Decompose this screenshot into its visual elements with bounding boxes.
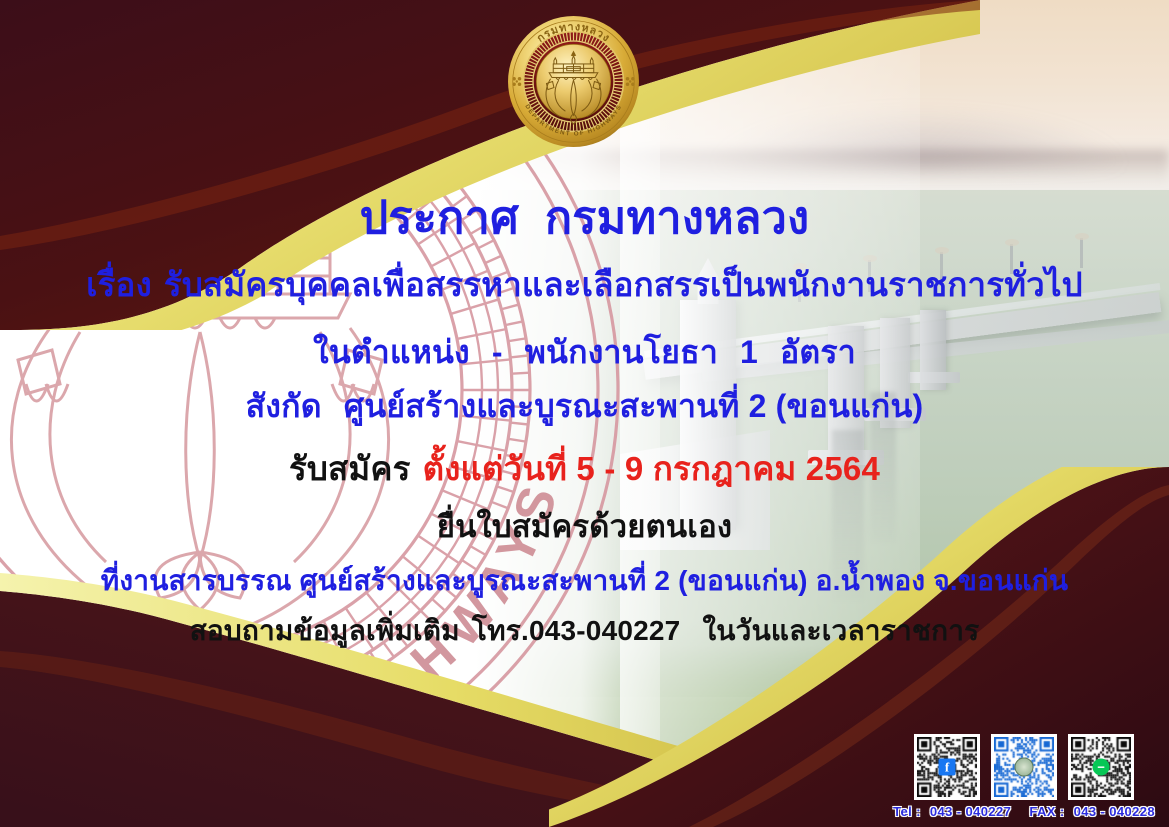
application-method-line: ยื่นใบสมัครด้วยตนเอง [0, 501, 1169, 551]
apply-label: รับสมัคร [289, 450, 411, 487]
tel-value: 043 - 040227 [930, 804, 1011, 819]
tel-fax-caption: Tel :043 - 040227FAX :043 - 040228 [893, 804, 1155, 819]
position-count: 1 [740, 334, 758, 370]
contact-hours: ในวันและเวลาราชการ [702, 615, 979, 646]
subject-label: เรื่อง [86, 266, 152, 303]
affiliation-line: สังกัดศูนย์สร้างและบูรณะสะพานที่ 2 (ขอนแ… [0, 381, 1169, 432]
contact-label: สอบถามข้อมูลเพิ่มเติม [190, 615, 460, 646]
qr-line[interactable]: − [1068, 734, 1134, 800]
poster-title: ประกาศกรมทางหลวง [0, 181, 1169, 253]
announcement-poster: กรมทางหลวง DEPARTMENT OF HIGHWAYS [0, 0, 1169, 827]
qr-code-row: f − [914, 734, 1134, 800]
application-place-line: ที่งานสารบรรณ ศูนย์สร้างและบูรณะสะพานที่… [0, 559, 1169, 603]
contact-line: สอบถามข้อมูลเพิ่มเติมโทร.043-040227ในวัน… [0, 609, 1169, 653]
fax-label: FAX : [1029, 804, 1064, 819]
position-unit: อัตรา [780, 334, 856, 370]
qr-contact-block: f − Tel :043 - 040227FAX :043 - 040228 [893, 734, 1155, 819]
tel-label: Tel : [893, 804, 921, 819]
position-label: ในตำแหน่ง [313, 334, 470, 370]
affiliation-name: ศูนย์สร้างและบูรณะสะพานที่ 2 (ขอนแก่น) [344, 388, 924, 424]
title-organization: กรมทางหลวง [545, 192, 809, 243]
qr-website[interactable] [991, 734, 1057, 800]
title-prefix: ประกาศ [360, 192, 519, 243]
position-name: พนักงานโยธา [525, 334, 718, 370]
application-period-line: รับสมัครตั้งแต่วันที่ 5 - 9 กรกฎาคม 2564 [0, 442, 1169, 495]
subject-line: เรื่องรับสมัครบุคคลเพื่อสรรหาและเลือกสรร… [0, 258, 1169, 311]
apply-method: ยื่นใบสมัครด้วยตนเอง [437, 509, 733, 544]
line-messenger-icon: − [1093, 759, 1110, 776]
facebook-icon: f [939, 759, 956, 776]
contact-phone: โทร.043-040227 [472, 615, 681, 646]
affiliation-label: สังกัด [246, 388, 322, 424]
qr-facebook[interactable]: f [914, 734, 980, 800]
position-line: ในตำแหน่ง-พนักงานโยธา1อัตรา [0, 327, 1169, 378]
announcement-text-block: ประกาศกรมทางหลวง เรื่องรับสมัครบุคคลเพื่… [0, 0, 1169, 827]
department-logo-icon [1015, 758, 1034, 777]
position-dash: - [492, 334, 503, 370]
apply-period: ตั้งแต่วันที่ 5 - 9 กรกฎาคม 2564 [423, 450, 880, 487]
apply-place: ที่งานสารบรรณ ศูนย์สร้างและบูรณะสะพานที่… [101, 565, 1068, 596]
fax-value: 043 - 040228 [1074, 804, 1155, 819]
subject-text: รับสมัครบุคคลเพื่อสรรหาและเลือกสรรเป็นพน… [164, 266, 1083, 303]
